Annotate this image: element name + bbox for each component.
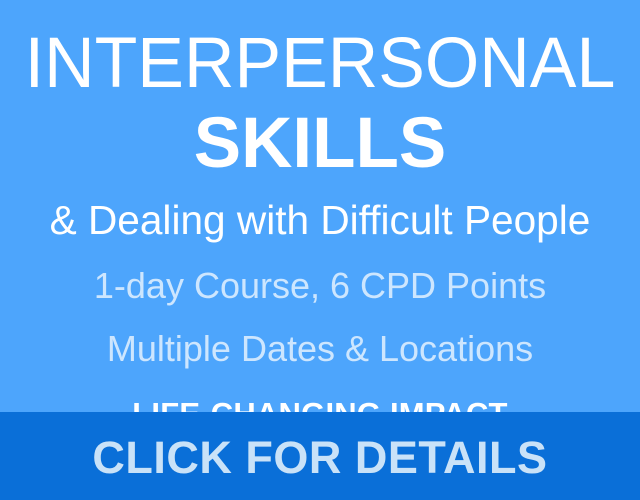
headline-line-1: INTERPERSONAL (5, 28, 635, 99)
ad-subtitle: & Dealing with Difficult People (3, 200, 637, 241)
ad-detail-dates-locations: Multiple Dates & Locations (0, 331, 640, 367)
headline-line-2: SKILLS (0, 108, 640, 179)
ad-detail-course-info: 1-day Course, 6 CPD Points (0, 268, 640, 304)
call-to-action-bar[interactable]: CLICK FOR DETAILS (0, 412, 640, 500)
ad-content-area: INTERPERSONAL SKILLS & Dealing with Diff… (0, 0, 640, 412)
cta-label: CLICK FOR DETAILS (92, 435, 547, 480)
advertisement-banner[interactable]: INTERPERSONAL SKILLS & Dealing with Diff… (0, 0, 640, 500)
